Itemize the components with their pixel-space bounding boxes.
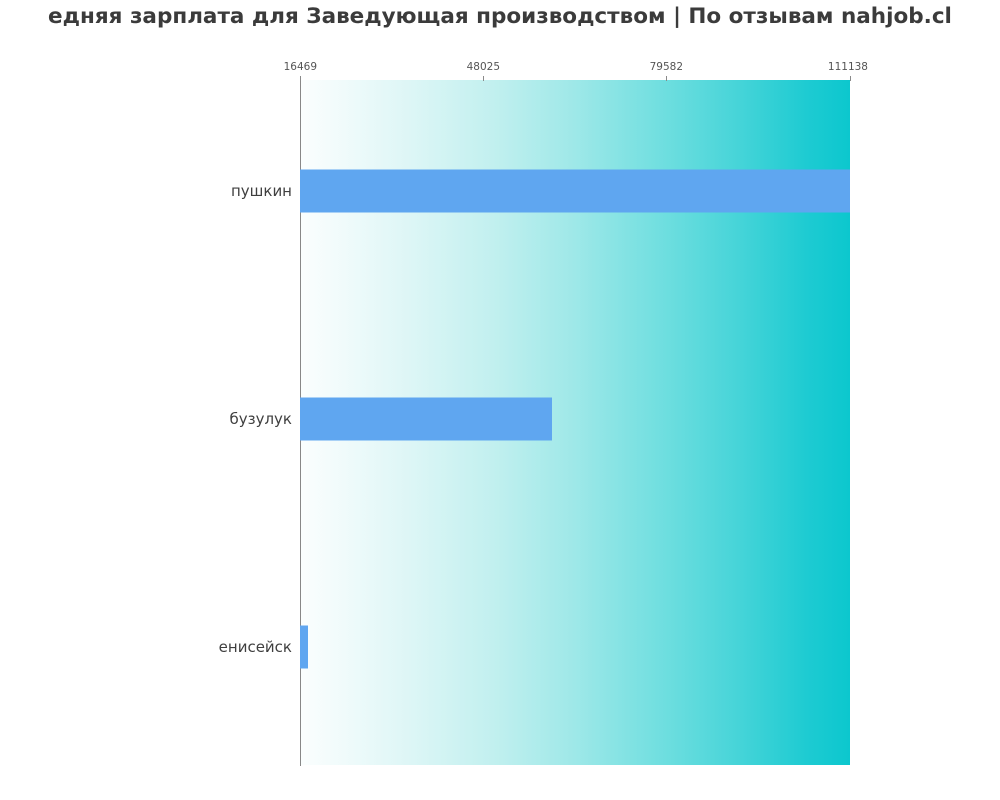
chart-title: едняя зарплата для Заведующая производст…	[0, 0, 1000, 34]
bar-buzuluk[interactable]	[300, 398, 552, 441]
y-category-label-pushkin: пушкин	[231, 182, 292, 200]
x-tick-mark-3	[850, 76, 851, 81]
x-tick-label-1: 48025	[467, 61, 500, 73]
x-tick-mark-0	[300, 76, 301, 81]
x-tick-mark-1	[483, 76, 484, 81]
bar-pushkin[interactable]	[300, 170, 850, 213]
x-tick-mark-2	[666, 76, 667, 81]
bar-eniseysk[interactable]	[300, 626, 308, 669]
x-tick-label-0: 16469	[284, 61, 317, 73]
x-tick-label-3: 111138	[828, 61, 868, 73]
y-category-label-buzuluk: бузулук	[229, 410, 292, 428]
y-category-label-eniseysk: енисейск	[219, 638, 292, 656]
x-tick-label-2: 79582	[650, 61, 683, 73]
